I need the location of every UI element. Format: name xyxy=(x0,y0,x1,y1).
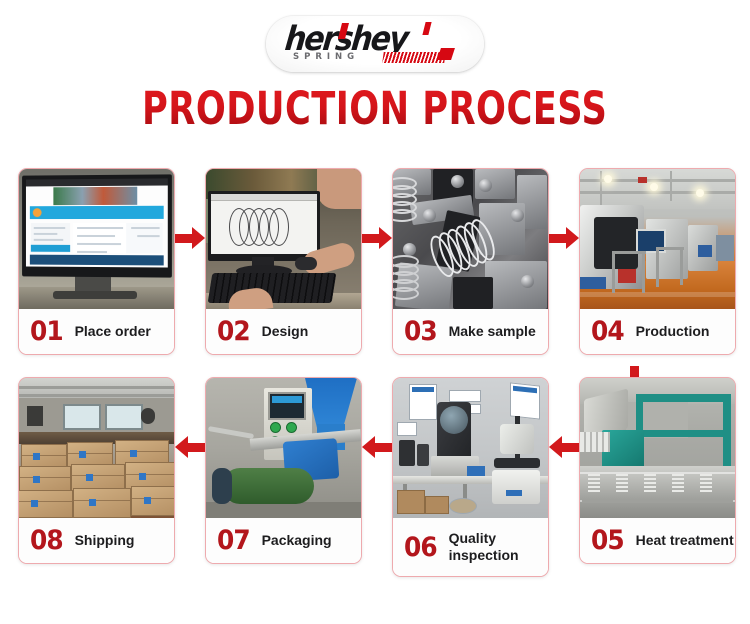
step-title: Design xyxy=(262,323,309,340)
step-card-05[interactable]: 05 Heat treatment xyxy=(579,377,736,564)
brand-logo: hershey SPRING xyxy=(266,16,484,72)
step-label-03: 03 Make sample xyxy=(393,309,548,354)
step-number: 07 xyxy=(217,527,250,554)
step-title: Place order xyxy=(75,323,151,340)
connector-06-to-07 xyxy=(362,377,392,517)
step-card-04[interactable]: 04 Production xyxy=(579,168,736,355)
step-label-06: 06 Qualityinspection xyxy=(393,518,548,576)
connector-02-to-03 xyxy=(362,168,392,308)
step-number: 06 xyxy=(404,534,437,561)
step-photo-packaging xyxy=(206,378,361,518)
arrow-right-icon xyxy=(175,227,205,249)
spring-coil-icon xyxy=(382,52,446,63)
step-label-08: 08 Shipping xyxy=(19,518,174,563)
step-photo-production xyxy=(580,169,735,309)
step-card-03[interactable]: 03 Make sample xyxy=(392,168,549,355)
arrow-left-icon xyxy=(549,436,579,458)
step-card-07[interactable]: 07 Packaging xyxy=(205,377,362,564)
connector-01-to-02 xyxy=(175,168,205,308)
arrow-left-icon xyxy=(175,436,205,458)
step-card-02[interactable]: 02 Design xyxy=(205,168,362,355)
step-title: Heat treatment xyxy=(636,532,734,549)
connector-07-to-08 xyxy=(175,377,205,517)
step-title: Production xyxy=(636,323,710,340)
step-card-08[interactable]: 08 Shipping xyxy=(18,377,175,564)
page-title: PRODUCTION PROCESS xyxy=(142,85,607,134)
logo-red-accent-2 xyxy=(422,22,431,35)
step-label-02: 02 Design xyxy=(206,309,361,354)
page-header: hershey SPRING PRODUCTION PROCESS xyxy=(0,0,750,132)
step-photo-make-sample xyxy=(393,169,548,309)
process-row-bottom: 08 Shipping xyxy=(0,377,750,577)
production-process-flow: 01 Place order xyxy=(0,168,750,577)
brand-tagline: SPRING xyxy=(293,52,359,62)
step-photo-place-order xyxy=(19,169,174,309)
step-number: 02 xyxy=(217,318,250,345)
step-label-05: 05 Heat treatment xyxy=(580,518,735,563)
process-row-top: 01 Place order xyxy=(0,168,750,355)
step-label-04: 04 Production xyxy=(580,309,735,354)
arrow-right-icon xyxy=(362,227,392,249)
step-number: 04 xyxy=(591,318,624,345)
arrow-left-icon xyxy=(362,436,392,458)
step-title-line1: Quality xyxy=(449,530,496,546)
step-title: Make sample xyxy=(449,323,536,340)
step-photo-heat-treatment xyxy=(580,378,735,518)
step-card-01[interactable]: 01 Place order xyxy=(18,168,175,355)
step-title: Qualityinspection xyxy=(449,530,519,564)
step-card-06[interactable]: 06 Qualityinspection xyxy=(392,377,549,577)
step-title: Packaging xyxy=(262,532,332,549)
step-photo-quality-inspection xyxy=(393,378,548,518)
step-photo-design xyxy=(206,169,361,309)
step-label-07: 07 Packaging xyxy=(206,518,361,563)
step-number: 03 xyxy=(404,318,437,345)
step-number: 08 xyxy=(30,527,63,554)
step-photo-shipping xyxy=(19,378,174,518)
arrow-right-icon xyxy=(549,227,579,249)
spring-coil-tail-icon xyxy=(437,48,455,60)
step-title-line2: inspection xyxy=(449,547,519,563)
connector-03-to-04 xyxy=(549,168,579,308)
step-number: 01 xyxy=(30,318,63,345)
step-title: Shipping xyxy=(75,532,135,549)
step-number: 05 xyxy=(591,527,624,554)
step-label-01: 01 Place order xyxy=(19,309,174,354)
connector-05-to-06 xyxy=(549,377,579,517)
